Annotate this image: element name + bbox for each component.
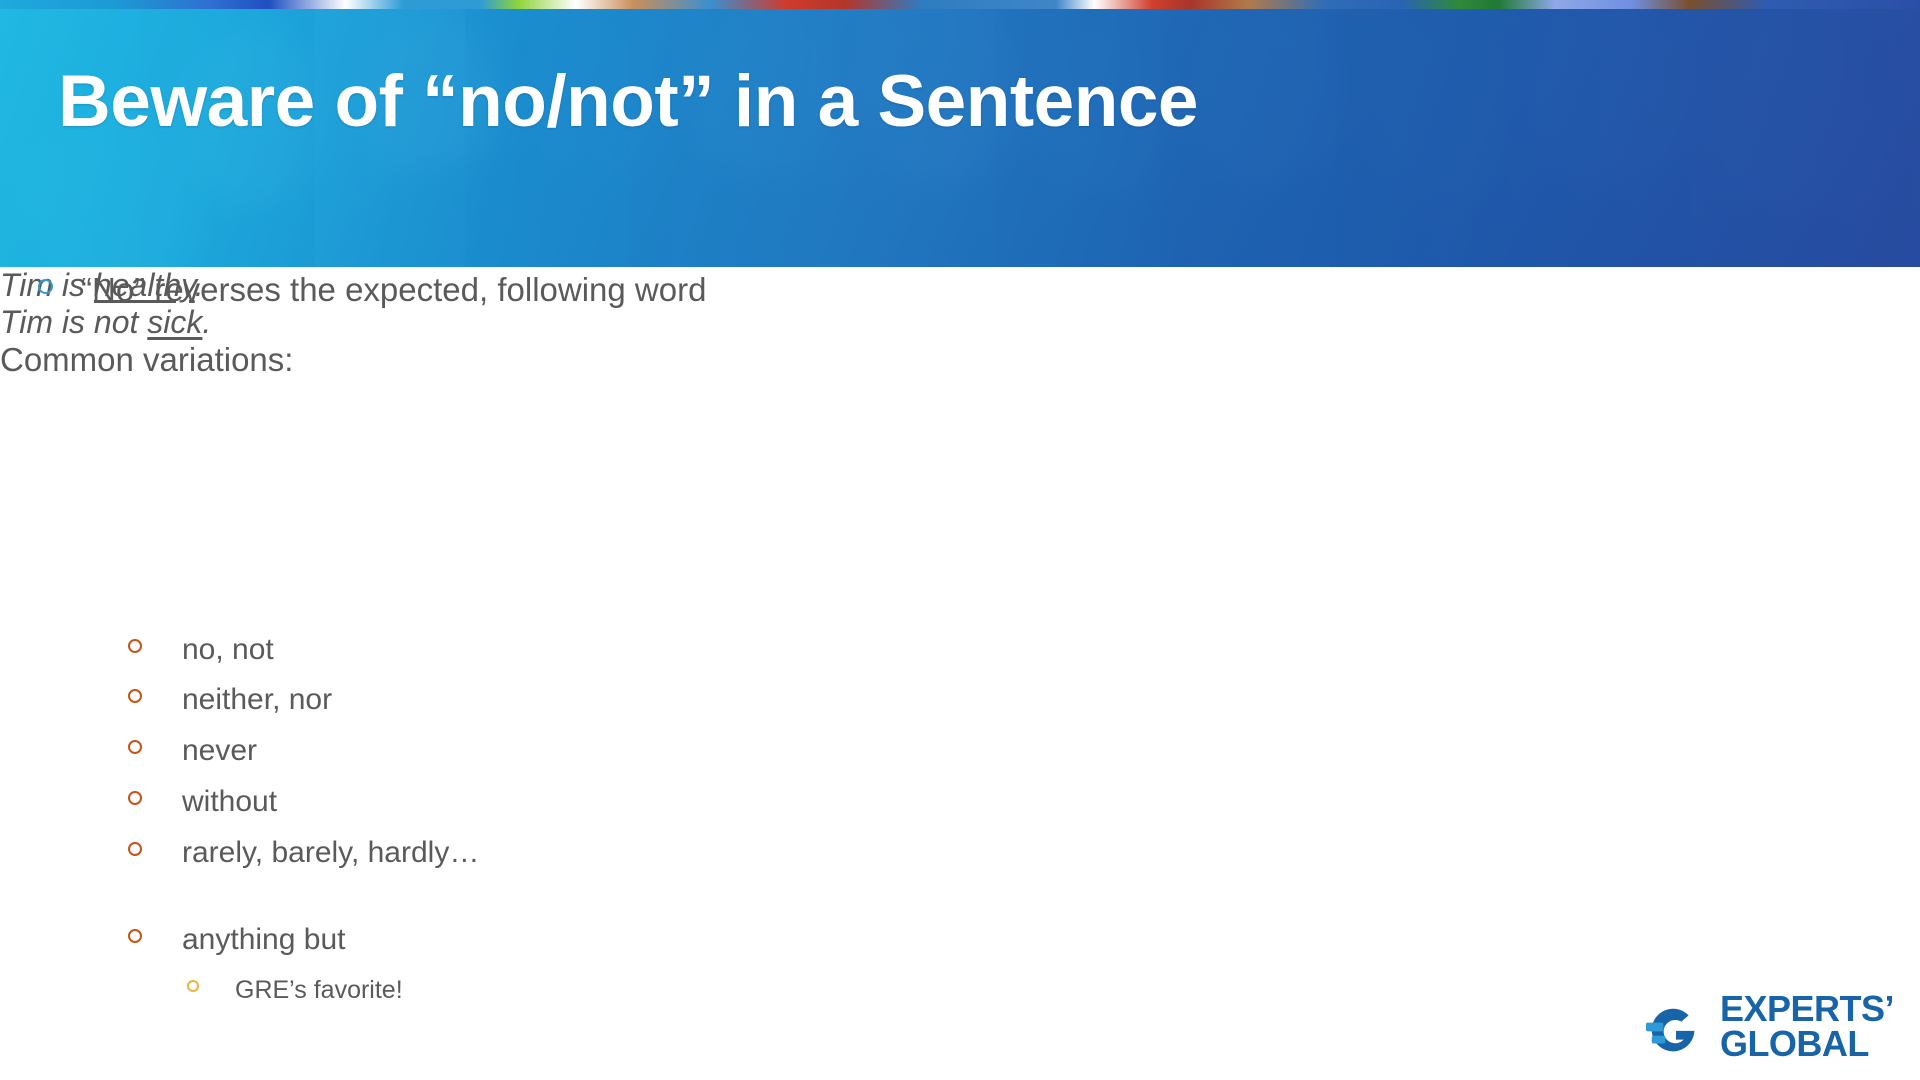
variation-label: anything but bbox=[182, 923, 345, 957]
example-sentence-2: Tim is not sick. bbox=[0, 304, 1920, 341]
main-point-text: “No” reverses the expected, following wo… bbox=[81, 271, 706, 309]
example-2-prefix: Tim is not bbox=[0, 304, 147, 340]
variation-item-1: no, not bbox=[128, 633, 274, 667]
variation-item-5: rarely, barely, hardly… bbox=[128, 836, 479, 870]
logo-line-1: EXPERTS’ bbox=[1720, 992, 1894, 1027]
bullet-level2-circle-icon bbox=[128, 842, 142, 856]
variation-item-2: neither, nor bbox=[128, 683, 332, 717]
variation-label: rarely, barely, hardly… bbox=[182, 836, 479, 870]
bullet-level2-circle-icon bbox=[128, 791, 142, 805]
sub-note-text: GRE’s favorite! bbox=[235, 976, 403, 1005]
bullet-level2-circle-icon bbox=[128, 689, 142, 703]
main-point-row: “No” reverses the expected, following wo… bbox=[38, 271, 706, 309]
experts-global-logo: EXPERTS’ GLOBAL bbox=[1644, 992, 1894, 1062]
bullet-level2-circle-icon bbox=[128, 740, 142, 754]
bullet-level2-circle-icon bbox=[128, 639, 142, 653]
variation-label: no, not bbox=[182, 633, 274, 667]
page-title: Beware of “no/not” in a Sentence bbox=[58, 64, 1858, 141]
common-variations-heading: Common variations: bbox=[0, 341, 1920, 379]
header-top-color-strip bbox=[0, 0, 1920, 9]
sub-note-row: GRE’s favorite! bbox=[187, 976, 403, 1005]
logo-line-2: GLOBAL bbox=[1720, 1027, 1894, 1062]
example-2-underlined: sick bbox=[147, 304, 202, 340]
variation-item-3: never bbox=[128, 734, 257, 768]
bullet-level3-circle-icon bbox=[187, 980, 199, 992]
bullet-level1-circle-icon bbox=[38, 279, 53, 294]
g-circle-icon bbox=[1644, 996, 1706, 1058]
variation-item-4: without bbox=[128, 785, 277, 819]
variation-label: never bbox=[182, 734, 257, 768]
variation-label: without bbox=[182, 785, 277, 819]
bullet-level2-circle-icon bbox=[128, 929, 142, 943]
variation-item-6: anything but bbox=[128, 923, 345, 957]
logo-wordmark: EXPERTS’ GLOBAL bbox=[1720, 992, 1894, 1062]
variation-label: neither, nor bbox=[182, 683, 332, 717]
example-2-suffix: . bbox=[202, 304, 211, 340]
slide-body: “No” reverses the expected, following wo… bbox=[0, 267, 1920, 1080]
slide-header: Beware of “no/not” in a Sentence bbox=[0, 0, 1920, 267]
